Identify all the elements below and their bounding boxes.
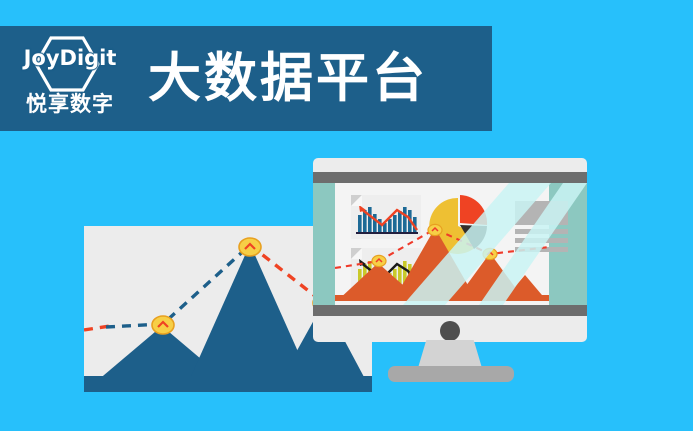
monitor-stand xyxy=(418,340,482,368)
poster-canvas: JoyDigit 悦享数字 大数据平台 xyxy=(0,0,693,431)
desktop-monitor xyxy=(313,158,587,342)
brand-wordmark: JoyDigit xyxy=(14,46,126,70)
monitor-bottom-bar xyxy=(313,305,587,316)
screen-glare xyxy=(313,183,587,305)
header-banner: JoyDigit 悦享数字 大数据平台 xyxy=(0,26,492,131)
power-button-icon[interactable] xyxy=(440,321,460,341)
monitor-screen xyxy=(313,183,587,305)
brand-subbrand: 悦享数字 xyxy=(14,88,126,118)
monitor-top-bar xyxy=(313,172,587,183)
brand-logo: JoyDigit 悦享数字 xyxy=(14,34,126,124)
page-title: 大数据平台 xyxy=(148,52,428,105)
monitor-base xyxy=(388,366,514,382)
